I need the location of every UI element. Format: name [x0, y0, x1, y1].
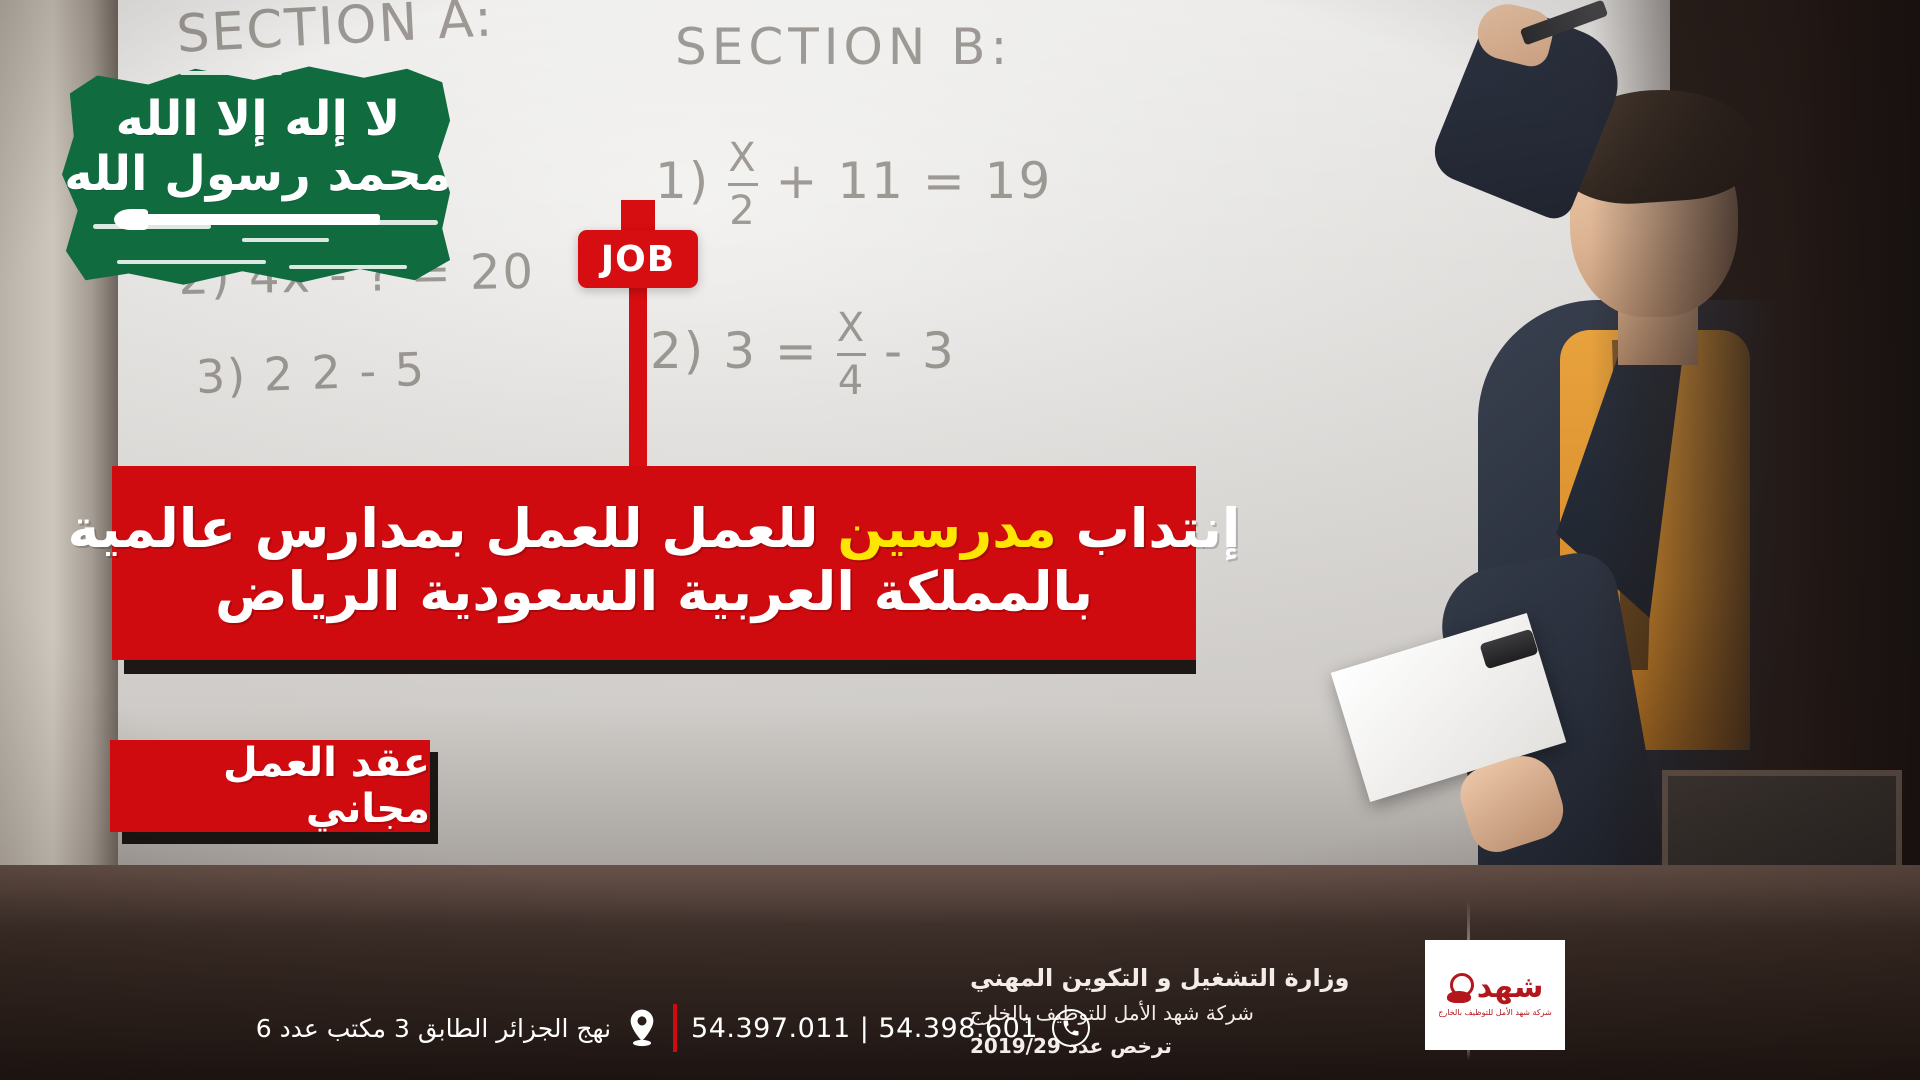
- handwriting-section-b: SECTION B:: [675, 18, 1012, 76]
- handwriting-line-3: 3) 2 2 - 5: [195, 342, 427, 404]
- job-sign-label: JOB: [601, 239, 675, 280]
- eq1-denominator: 2: [728, 188, 757, 234]
- job-sign-knob: [621, 200, 655, 230]
- headline-banner: إنتداب مدرسين للعمل للعمل بمدارس عالمية …: [112, 466, 1196, 660]
- eq1-fraction-bar: [728, 183, 757, 186]
- headline-line-1: إنتداب مدرسين للعمل للعمل بمدارس عالمية: [68, 498, 1241, 561]
- eq2-fraction-bar: [837, 353, 866, 356]
- handwriting-equation-1: 1) X 2 + 11 = 19: [655, 135, 1052, 234]
- flag-brush-streak: [242, 238, 328, 242]
- job-sign-plate: JOB: [578, 230, 698, 288]
- eq2-fraction: X 4: [837, 305, 866, 404]
- desk-foreground: [0, 865, 1920, 1080]
- eq1-suffix: + 11 = 19: [776, 152, 1053, 210]
- eq2-numerator: X: [837, 305, 866, 351]
- sub-banner: عقد العمل مجاني: [110, 740, 430, 832]
- flag-sword-icon: [140, 214, 379, 225]
- headline-line-2: بالمملكة العربية السعودية الرياض: [215, 561, 1093, 624]
- headline-highlight-word: مدرسين: [837, 497, 1056, 560]
- headline-prefix: إنتداب: [1057, 497, 1241, 560]
- flag-brush-streak: [117, 260, 266, 264]
- job-sign: JOB: [578, 200, 698, 480]
- sub-banner-label: عقد العمل مجاني: [110, 740, 430, 832]
- eq1-fraction: X 2: [728, 135, 757, 234]
- headline-suffix: للعمل للعمل بمدارس عالمية: [68, 497, 838, 560]
- flag-brush-streak: [289, 265, 407, 269]
- flag-shahada-text: لا إله إلا الله محمد رسول الله: [62, 92, 454, 202]
- eq2-suffix: - 3: [884, 322, 956, 380]
- eq2-denominator: 4: [837, 358, 866, 404]
- job-poster: SECTION A: SECTION B: 1) 2) 4x - ? = 20 …: [0, 0, 1920, 1080]
- saudi-flag-icon: لا إله إلا الله محمد رسول الله: [62, 62, 454, 287]
- job-sign-post: [629, 288, 647, 480]
- eq1-numerator: X: [728, 135, 757, 181]
